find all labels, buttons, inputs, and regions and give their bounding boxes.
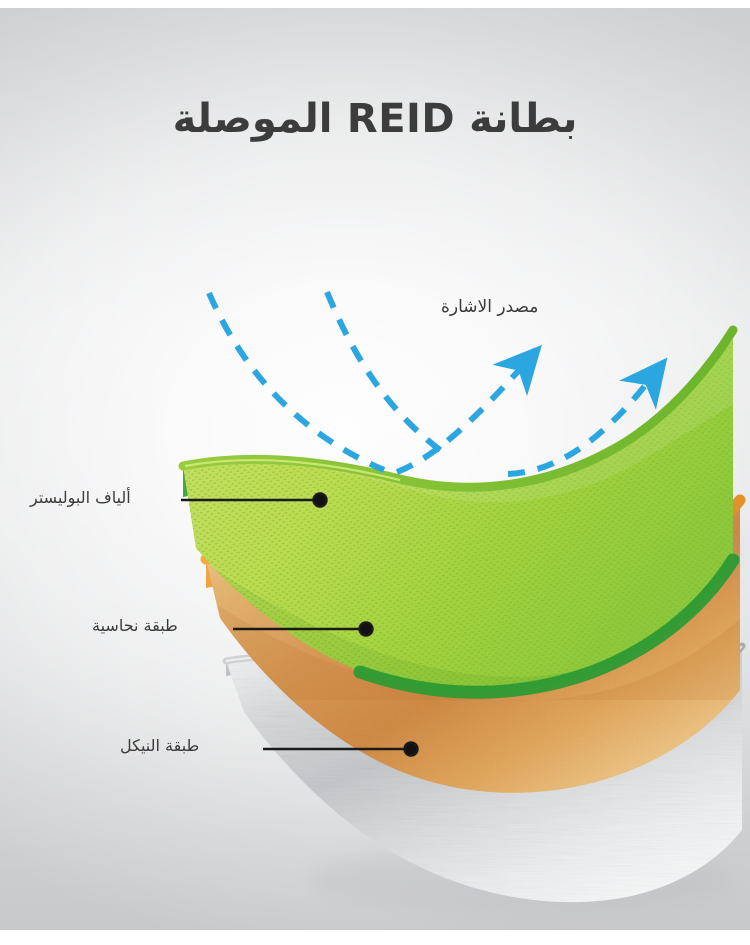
incoming-ray-1 [209, 293, 384, 470]
leader-dot-polyester [314, 494, 327, 507]
leader-dot-copper [360, 623, 373, 636]
incoming-ray-2 [327, 292, 447, 455]
product-infographic: بطانة REID الموصلة [0, 0, 750, 945]
leader-dot-nickel [405, 743, 418, 756]
callout-label-nickel: طبقة النيكل [120, 736, 199, 755]
callout-label-polyester: ألياف البوليستر [30, 488, 131, 507]
layer-stack-illustration [0, 0, 750, 945]
callout-label-signal-source: مصدر الاشارة [441, 297, 538, 317]
signal-rays [209, 292, 447, 470]
callout-label-copper: طبقة نحاسية [92, 616, 178, 635]
signal-arrow-1 [397, 368, 521, 472]
